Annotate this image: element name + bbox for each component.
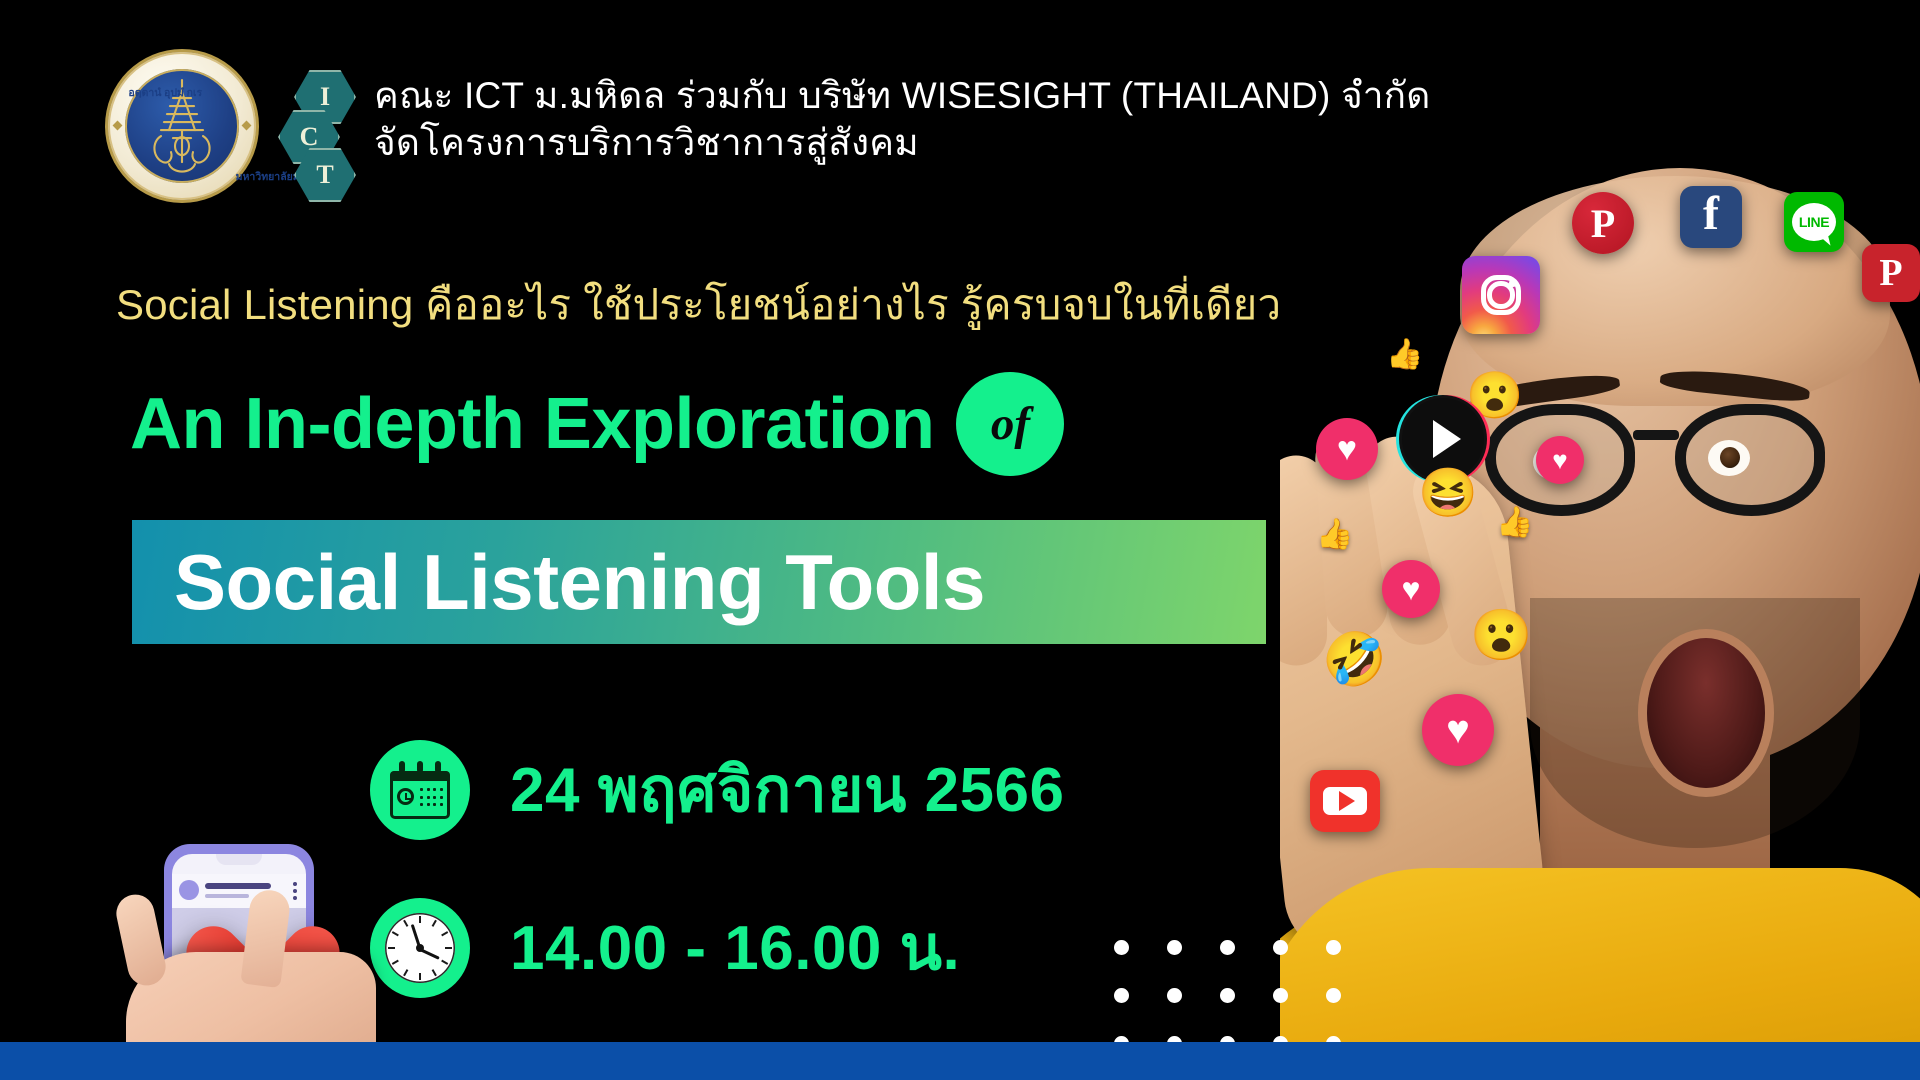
pinterest-glyph: P [1879, 251, 1902, 295]
bottom-accent-bar [0, 1042, 1920, 1080]
pinterest-icon: P [1572, 192, 1634, 254]
rofl-emoji-icon: 🤣 [1322, 634, 1387, 686]
thumbs-up-icon: 👍 [1496, 508, 1533, 538]
heart-reaction-icon: ♥ [1382, 560, 1440, 618]
banner-title: Social Listening Tools [174, 543, 985, 621]
facebook-icon: f [1680, 186, 1742, 248]
header-text-block: คณะ ICT ม.มหิดล ร่วมกับ บริษัท WISESIGHT… [374, 52, 1431, 167]
title-banner: Social Listening Tools [132, 520, 1266, 644]
headline-row: An In-depth Exploration of [130, 372, 1064, 476]
haha-emoji-icon: 😆 [1418, 470, 1478, 518]
event-date-value: 24 พฤศจิกายน 2566 [510, 741, 1065, 839]
header-line-1: คณะ ICT ม.มหิดล ร่วมกับ บริษัท WISESIGHT… [374, 72, 1431, 119]
line-icon: LINE [1784, 192, 1844, 252]
pinterest-glyph: P [1591, 200, 1615, 247]
headline-text: An In-depth Exploration [130, 388, 934, 460]
ict-hexagon-logo: I C T [278, 52, 352, 200]
instagram-icon [1462, 256, 1540, 334]
dot-grid [1114, 940, 1341, 1051]
wow-emoji-icon: 😮 [1466, 372, 1523, 418]
event-time-value: 14.00 - 16.00 น. [510, 899, 960, 997]
event-date-row: 24 พฤศจิกายน 2566 [370, 740, 1065, 840]
subtitle-question: Social Listening คืออะไร ใช้ประโยชน์อย่า… [116, 272, 1281, 338]
facebook-glyph: f [1703, 194, 1719, 233]
youtube-icon [1310, 770, 1380, 832]
pinterest-icon: P [1862, 244, 1920, 302]
mahidol-university-seal: อตฺตานํ อุปมํ กเร มหาวิทยาลัยมหิดล [108, 52, 256, 200]
heart-reaction-icon: ♥ [1422, 694, 1494, 766]
line-glyph: LINE [1799, 214, 1829, 230]
seal-ring-text: อตฺตานํ อุปมํ กเร มหาวิทยาลัยมหิดล [108, 52, 256, 200]
poster-canvas: อตฺตานํ อุปมํ กเร มหาวิทยาลัยมหิดล I C T… [0, 0, 1920, 1080]
event-time-row: 14.00 - 16.00 น. [370, 898, 960, 998]
header: อตฺตานํ อุปมํ กเร มหาวิทยาลัยมหิดล I C T… [108, 52, 1431, 200]
thumbs-up-icon: 👍 [1316, 520, 1353, 550]
surprised-man-listening-photo [1280, 168, 1920, 1080]
thumbs-up-icon: 👍 [1386, 340, 1423, 370]
headline-of-badge: of [956, 372, 1064, 476]
header-line-2: จัดโครงการบริการวิชาการสู่สังคม [374, 119, 1431, 166]
heart-reaction-icon: ♥ [1316, 418, 1378, 480]
wow-emoji-icon: 😮 [1470, 610, 1532, 660]
calendar-icon [370, 740, 470, 840]
heart-reaction-icon: ♥ [1536, 436, 1584, 484]
